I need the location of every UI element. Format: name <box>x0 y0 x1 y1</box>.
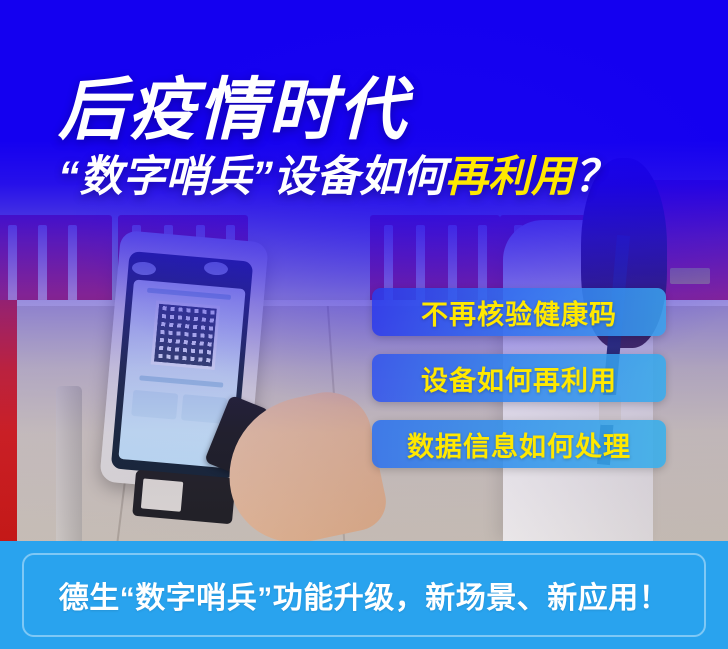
feature-pill-label: 不再核验健康码 <box>421 293 617 332</box>
feature-pill-device-reuse[interactable]: 设备如何再利用 <box>372 354 666 402</box>
poster-root: 后疫情时代 “数字哨兵”设备如何再利用？ 不再核验健康码 设备如何再利用 数据信… <box>0 0 728 649</box>
bottom-banner-text: 德生“数字哨兵”功能升级，新场景、新应用！ <box>59 573 670 617</box>
bottom-banner-frame: 德生“数字哨兵”功能升级，新场景、新应用！ <box>22 553 706 637</box>
feature-pill-label: 数据信息如何处理 <box>407 425 631 464</box>
feature-pill-label: 设备如何再利用 <box>421 359 617 398</box>
feature-pill-list: 不再核验健康码 设备如何再利用 数据信息如何处理 <box>372 288 666 486</box>
feature-pill-health-code[interactable]: 不再核验健康码 <box>372 288 666 336</box>
bottom-banner: 德生“数字哨兵”功能升级，新场景、新应用！ <box>0 541 728 649</box>
feature-pill-data-handling[interactable]: 数据信息如何处理 <box>372 420 666 468</box>
